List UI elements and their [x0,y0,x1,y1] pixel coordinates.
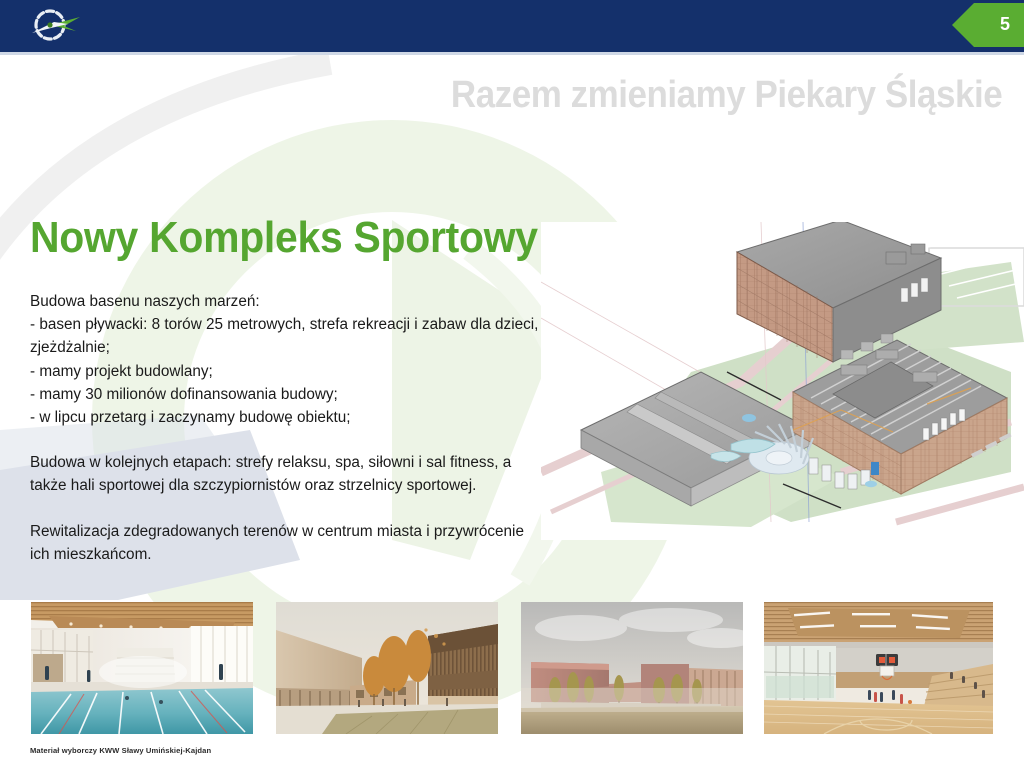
compass-arrow-logo [24,4,88,48]
photo-sports-hall-svg [764,602,993,734]
compass-arrow-logo-svg [24,4,88,48]
logo-hub-dot [47,22,52,27]
footer-disclaimer: Materiał wyborczy KWW Sławy Umińskiej-Ka… [30,746,211,755]
paragraph-spacer-1 [30,429,542,451]
body-copy: Budowa basenu naszych marzeń: - basen pł… [30,290,542,566]
photo-sports-hall [764,602,993,734]
page-title: Nowy Kompleks Sportowy [30,213,538,263]
entrance-accent-panel [871,462,879,475]
hall-left-windows [764,646,836,700]
photo-exterior-distant-svg [521,602,743,734]
page-number-badge: 5 [952,2,1024,48]
presentation-slide: 5 Razem zmieniamy Piekary Śląskie Nowy K… [0,0,1024,768]
page-badge-chevron-icon [952,2,1024,48]
header-underline [0,52,1024,55]
photo-swimming-pool-svg [31,602,253,734]
photo-exterior-plaza-svg [276,602,498,734]
page-number: 5 [1000,14,1010,35]
body-paragraph-1: Budowa basenu naszych marzeń: [30,290,542,313]
body-paragraph-2: - basen pływacki: 8 torów 25 metrowych, … [30,313,542,359]
sports-complex-3d-render [541,222,1024,540]
body-paragraph-3: - mamy projekt budowlany; [30,360,542,383]
body-paragraph-7: Rewitalizacja zdegradowanych terenów w c… [30,520,542,566]
photo-swimming-pool [31,602,253,734]
body-paragraph-5: - w lipcu przetarg i zaczynamy budowę ob… [30,406,542,429]
hall-scoreboard [876,654,898,666]
photo-exterior-distant [521,602,743,734]
paragraph-spacer-2 [30,498,542,520]
photo-exterior-plaza [276,602,498,734]
body-paragraph-4: - mamy 30 milionów dofinansowania budowy… [30,383,542,406]
header-bar [0,0,1024,52]
slogan-watermark: Razem zmieniamy Piekary Śląskie [451,74,1002,117]
pool-left-windows [31,630,93,684]
hero-render-svg [541,222,1024,540]
body-paragraph-6: Budowa w kolejnych etapach: strefy relak… [30,451,542,497]
grey-arc-watermark [0,62,330,300]
